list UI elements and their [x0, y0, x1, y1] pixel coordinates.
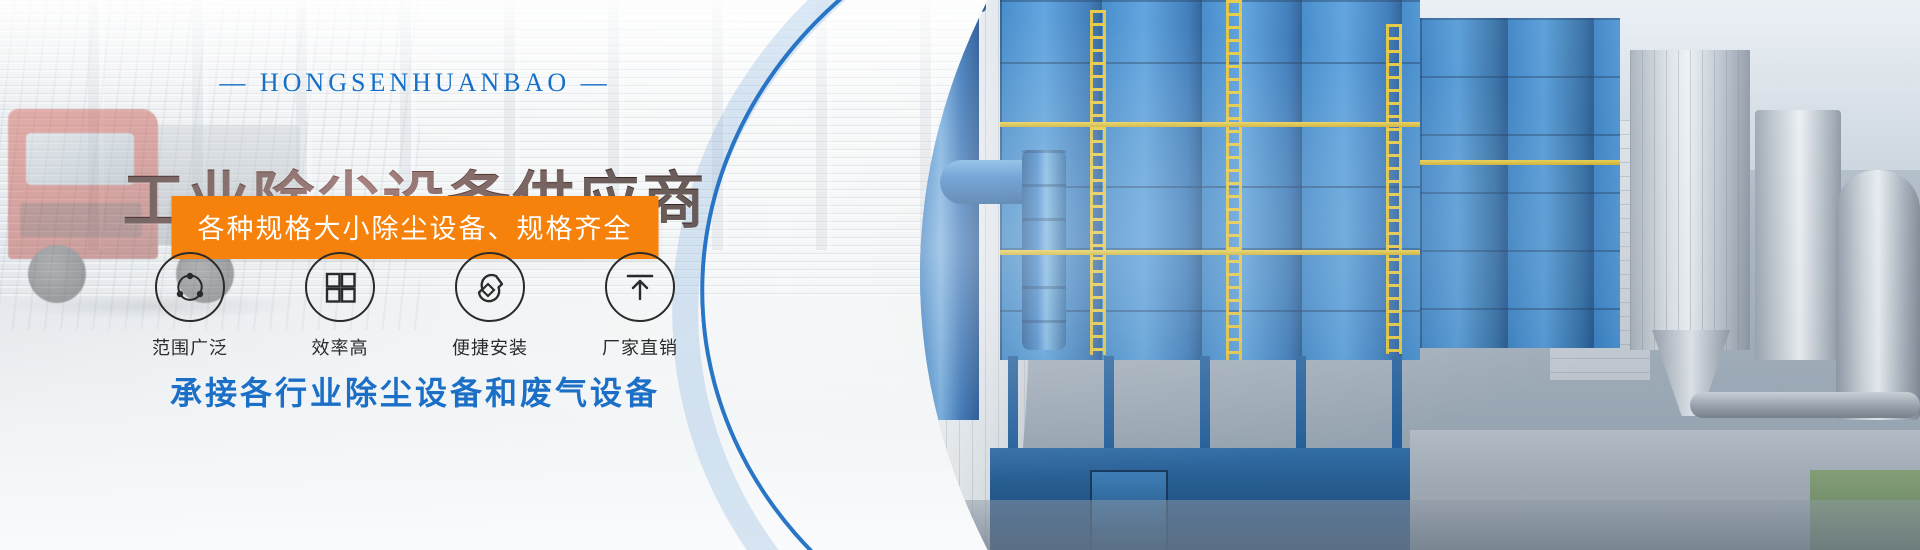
feature-label: 厂家直销	[586, 334, 694, 360]
access-ladder-2	[1226, 0, 1242, 360]
feature-label: 范围广泛	[136, 334, 244, 360]
share-network-icon	[155, 252, 225, 322]
horizontal-pipe	[1690, 392, 1920, 418]
banner-tagline: 承接各行业除尘设备和废气设备	[0, 368, 830, 414]
baghouse-filter-panel-lines-secondary	[1420, 18, 1620, 348]
steel-tank-right	[1836, 170, 1920, 420]
feature-item-installation[interactable]: 便捷安装	[436, 252, 544, 360]
feature-item-direct-sales[interactable]: 厂家直销	[586, 252, 694, 360]
feature-label: 便捷安装	[436, 334, 544, 360]
access-ladder-3	[1386, 24, 1402, 354]
feature-item-efficiency[interactable]: 效率高	[286, 252, 394, 360]
wrench-icon	[455, 252, 525, 322]
feature-item-scope[interactable]: 范围广泛	[136, 252, 244, 360]
grid-squares-icon	[305, 252, 375, 322]
feature-list: 范围广泛 效率高	[0, 252, 830, 360]
steel-tank-middle	[1755, 110, 1841, 360]
hero-banner: — HONGSENHUANBAO — 工业除尘设备供应商 各种规格大小除尘设备、…	[0, 0, 1920, 550]
access-ladder-1	[1090, 10, 1106, 355]
steel-tank-left-ribs	[1630, 50, 1750, 350]
subtitle-badge: 各种规格大小除尘设备、规格齐全	[172, 196, 659, 259]
banner-content: — HONGSENHUANBAO — 工业除尘设备供应商 各种规格大小除尘设备、…	[0, 0, 830, 550]
feature-label: 效率高	[286, 334, 394, 360]
brand-eyebrow: — HONGSENHUANBAO —	[0, 68, 830, 98]
walkway-railing-1	[1000, 122, 1420, 127]
factory-photo	[790, 0, 1920, 550]
upload-arrow-icon	[605, 252, 675, 322]
walkway-railing-3	[1420, 160, 1620, 165]
walkway-railing-2	[1000, 250, 1420, 255]
